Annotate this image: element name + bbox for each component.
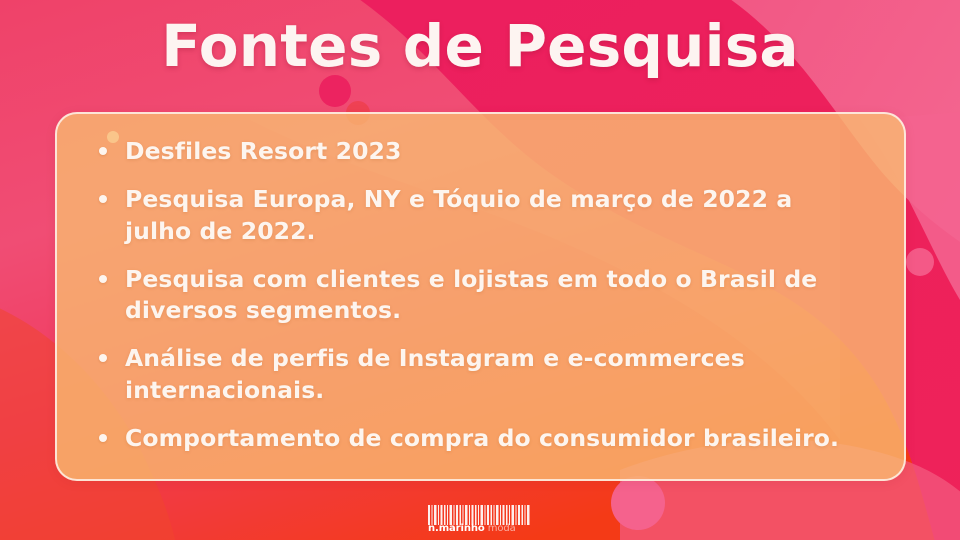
brand-name: n.marinho (428, 523, 485, 534)
brand-logo-text: n.marinho moda (428, 523, 532, 534)
decor-circle-3 (611, 476, 665, 530)
brand-logo: n.marinho moda (428, 505, 532, 535)
list-item: Pesquisa com clientes e lojistas em todo… (99, 264, 859, 327)
list-item: Desfiles Resort 2023 (99, 136, 859, 167)
slide-canvas: Fontes de Pesquisa Desfiles Resort 2023 … (0, 0, 960, 540)
decor-circle-4 (906, 248, 934, 276)
bullet-list: Desfiles Resort 2023 Pesquisa Europa, NY… (57, 114, 904, 472)
list-item: Pesquisa Europa, NY e Tóquio de março de… (99, 184, 859, 247)
title-container: Fontes de Pesquisa (0, 14, 960, 79)
list-item: Comportamento de compra do consumidor br… (99, 423, 859, 454)
barcode-icon (428, 505, 532, 525)
content-card: Desfiles Resort 2023 Pesquisa Europa, NY… (55, 112, 906, 481)
brand-suffix: moda (485, 523, 516, 534)
page-title: Fontes de Pesquisa (161, 14, 799, 79)
list-item: Análise de perfis de Instagram e e-comme… (99, 343, 859, 406)
